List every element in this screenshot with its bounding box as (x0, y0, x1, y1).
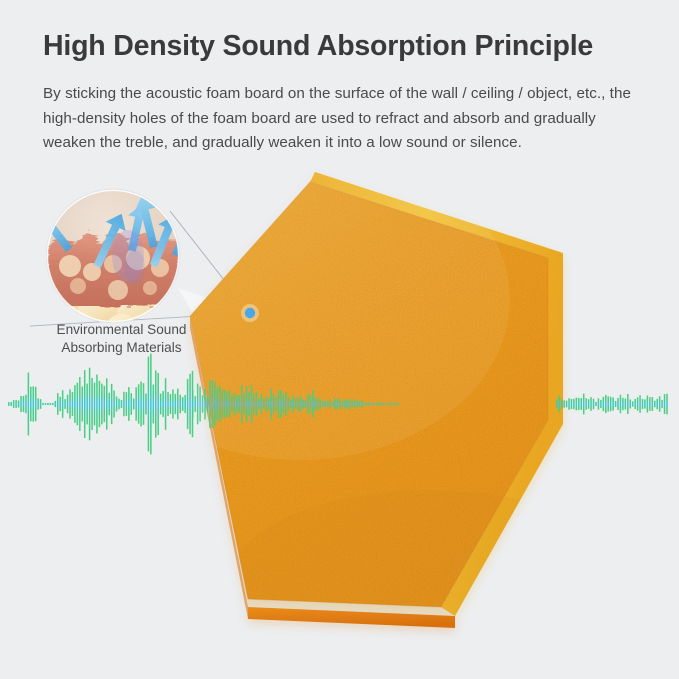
waveform-bar (243, 394, 245, 415)
waveform-bar (23, 396, 25, 412)
waveform-bar (266, 396, 268, 412)
waveform-bar (634, 399, 636, 409)
waveform-bar (189, 374, 191, 434)
waveform-bar (373, 403, 375, 405)
waveform-bar (202, 395, 204, 412)
waveform-bar (207, 396, 209, 413)
waveform-bar (184, 395, 186, 413)
waveform-bar (393, 403, 395, 405)
waveform-bar (310, 395, 312, 414)
waveform-bar (187, 379, 189, 429)
waveform-bar (644, 399, 646, 408)
waveform-bar (180, 395, 182, 413)
waveform-bar (275, 397, 277, 410)
waveform-bar (231, 396, 233, 412)
waveform-bar (317, 397, 319, 411)
waveform-bar (172, 389, 174, 418)
waveform-bar (612, 397, 614, 410)
waveform-bar (588, 399, 590, 409)
waveform-bar (334, 399, 336, 410)
waveform-bar (113, 390, 115, 417)
waveform-bar (15, 400, 17, 408)
inset-caption-line2: Absorbing Materials (34, 339, 209, 357)
waveform-bar (121, 400, 123, 408)
waveform-bar (18, 401, 20, 408)
waveform-bar (319, 399, 321, 408)
waveform-bar (630, 400, 632, 409)
waveform-bar (349, 399, 351, 409)
waveform-bar (143, 383, 145, 425)
waveform-bar (104, 386, 106, 422)
waveform-bar (170, 394, 172, 414)
waveform-bar (307, 394, 309, 414)
waveform-bar (603, 397, 605, 411)
inset-caption-line1: Environmental Sound (34, 321, 209, 339)
waveform-bar (167, 392, 169, 416)
waveform-bar (175, 394, 177, 415)
waveform-bar (42, 403, 44, 405)
waveform-bar (246, 386, 248, 421)
waveform-bar (10, 402, 12, 406)
waveform-bar (123, 392, 125, 417)
waveform-bar (226, 392, 228, 417)
waveform-bar (258, 399, 260, 409)
waveform-bar (632, 401, 634, 406)
waveform-bar (263, 399, 265, 409)
waveform-bar (212, 380, 214, 428)
waveform-bar (561, 399, 563, 409)
waveform-bar (647, 395, 649, 412)
waveform-bar (639, 395, 641, 413)
waveform-bar (239, 395, 241, 412)
waveform-bar (209, 380, 211, 428)
waveform-bar (194, 396, 196, 412)
waveform-bar (398, 403, 400, 405)
waveform-bar (610, 397, 612, 412)
waveform-bar (280, 390, 282, 418)
waveform-bar (28, 373, 30, 436)
waveform-bar (315, 398, 317, 410)
waveform-bar (157, 373, 159, 435)
waveform-bar (605, 395, 607, 413)
waveform-bar (50, 403, 52, 405)
waveform-bar (576, 398, 578, 411)
callout-target-dot (241, 304, 259, 322)
waveform-bar (666, 394, 668, 415)
waveform-bar (118, 399, 120, 410)
waveform-bar (236, 396, 238, 413)
waveform-bar (327, 401, 329, 406)
waveform-bar (45, 403, 47, 405)
waveform-bar (283, 395, 285, 414)
waveform-bar (253, 394, 255, 414)
waveform-bar (642, 399, 644, 409)
waveform-bar (654, 401, 656, 408)
waveform-bar (77, 383, 79, 425)
inset-caption: Environmental Sound Absorbing Materials (34, 321, 209, 357)
waveform-bar (312, 390, 314, 417)
waveform-bar (111, 384, 113, 424)
waveform-bar (165, 378, 167, 430)
waveform-bar (371, 402, 373, 405)
waveform-bar (99, 381, 101, 428)
waveform-bar (89, 368, 91, 441)
waveform-bar (354, 399, 356, 408)
waveform-bar (13, 400, 15, 408)
waveform-bar (627, 394, 629, 414)
waveform-bar (300, 396, 302, 412)
waveform-bar (571, 399, 573, 409)
waveform-bar (556, 400, 558, 409)
waveform-bar (598, 398, 600, 409)
waveform-bar (659, 396, 661, 412)
waveform-bar (155, 370, 157, 437)
waveform-bar (302, 400, 304, 409)
waveform-bar (47, 403, 49, 405)
waveform-bar (329, 399, 331, 408)
waveform-bar (150, 354, 152, 455)
waveform-bar (581, 398, 583, 410)
waveform-bar (268, 398, 270, 410)
waveform-bar (356, 401, 358, 407)
waveform-bar (116, 397, 118, 412)
waveform-bar (234, 393, 236, 416)
waveform-bar (615, 401, 617, 407)
waveform-bar (595, 402, 597, 406)
waveform-bar (390, 403, 392, 405)
waveform-bar (91, 378, 93, 430)
waveform-bar (204, 388, 206, 419)
waveform-bar (278, 391, 280, 418)
waveform-bar (368, 403, 370, 406)
waveform-bar (84, 370, 86, 438)
waveform-bar (376, 403, 378, 405)
waveform-bar (295, 399, 297, 409)
waveform-bar (297, 397, 299, 411)
waveform-bar (52, 403, 54, 405)
waveform-bar (388, 403, 390, 405)
waveform-bar (126, 392, 128, 416)
waveform-bar (96, 375, 98, 434)
waveform-bar (378, 402, 380, 405)
waveform-bar (344, 399, 346, 409)
waveform-bar (140, 382, 142, 427)
waveform-bar (573, 399, 575, 410)
waveform-bar (192, 390, 194, 418)
waveform-bar (25, 395, 27, 413)
waveform-bar (94, 383, 96, 426)
waveform-bar (270, 389, 272, 420)
waveform-bar (86, 384, 88, 425)
waveform-bar (229, 390, 231, 417)
waveform-bar (82, 387, 84, 422)
waveform-bar (219, 386, 221, 423)
waveform-bar (585, 398, 587, 410)
waveform-bar (341, 401, 343, 407)
waveform-bar (566, 401, 568, 408)
waveform-bar (261, 394, 263, 414)
waveform-bar (359, 401, 361, 406)
waveform-bar (339, 399, 341, 410)
waveform-bar (332, 402, 334, 406)
waveform-bar (661, 400, 663, 408)
waveform-bar (322, 401, 324, 407)
waveform-bar (292, 395, 294, 412)
waveform-bar (162, 391, 164, 417)
waveform-bar (361, 400, 363, 408)
waveform-bar (656, 399, 658, 409)
waveform-bar (625, 399, 627, 410)
waveform-bar (568, 398, 570, 409)
waveform-bar (273, 394, 275, 414)
waveform-bar (337, 399, 339, 410)
waveform-bar (153, 385, 155, 424)
waveform-bar (135, 387, 137, 420)
waveform-bar (652, 397, 654, 411)
waveform-bar (256, 392, 258, 416)
product-infographic: High Density Sound Absorption Principle … (0, 0, 679, 679)
waveform-bar (74, 385, 76, 423)
waveform-bar (133, 399, 135, 410)
waveform-bar (57, 393, 59, 415)
waveform-bar (617, 398, 619, 410)
waveform-bar (251, 385, 253, 422)
waveform-bar (79, 377, 81, 431)
waveform-bar (248, 392, 250, 416)
waveform-bar (108, 393, 110, 415)
waveform-bar (101, 384, 103, 425)
waveform-bar (55, 401, 57, 407)
waveform-bar (221, 389, 223, 418)
waveform-bar (607, 396, 609, 411)
waveform-bar (558, 396, 560, 413)
waveform-bar (600, 400, 602, 408)
waveform-bar (128, 387, 130, 421)
waveform-bar (386, 403, 388, 405)
waveform-bar (40, 399, 42, 409)
waveform-bar (366, 403, 368, 405)
waveform-bar (324, 401, 326, 407)
waveform-bar (69, 389, 71, 418)
waveform-bar (20, 396, 22, 412)
waveform-bar (37, 398, 39, 409)
waveform-bar (593, 399, 595, 409)
waveform-bar (148, 357, 150, 452)
waveform-bar (67, 395, 69, 414)
waveform-bar (583, 394, 585, 415)
waveform-bar (8, 402, 10, 406)
waveform-bar (290, 400, 292, 408)
waveform-bar (64, 399, 66, 409)
waveform-bar (199, 387, 201, 422)
waveform-bar (288, 397, 290, 412)
waveform-bar (217, 387, 219, 420)
waveform-bar (138, 384, 140, 423)
waveform-bar (285, 392, 287, 416)
waveform-bar (305, 400, 307, 408)
waveform-bar (59, 397, 61, 411)
waveform-bar (145, 393, 147, 414)
waveform-bar (72, 392, 74, 416)
waveform-bar (637, 397, 639, 410)
waveform-bar (241, 385, 243, 423)
waveform-bar (351, 401, 353, 408)
waveform-bar (214, 382, 216, 425)
waveform-bar (62, 390, 64, 418)
waveform-bar (578, 398, 580, 410)
waveform-bar (346, 400, 348, 408)
waveform-bar (131, 393, 133, 415)
waveform-bar (395, 403, 397, 405)
waveform-bar (381, 403, 383, 406)
waveform-bar (224, 390, 226, 417)
waveform-bar (620, 395, 622, 413)
waveform-bar (563, 400, 565, 407)
waveform-bar (177, 389, 179, 420)
waveform-bar (664, 394, 666, 414)
waveform-bar (622, 398, 624, 410)
waveform-bar (106, 378, 108, 429)
waveform-bar (649, 397, 651, 411)
waveform-bar (590, 397, 592, 411)
waveform-bar (35, 387, 37, 421)
waveform-bar (197, 384, 199, 425)
waveform-bar (182, 397, 184, 411)
waveform-bar (160, 394, 162, 415)
waveform-bar (364, 402, 366, 406)
waveform-bar (383, 403, 385, 405)
waveform-bar (33, 386, 35, 421)
waveform-bar (30, 387, 32, 422)
